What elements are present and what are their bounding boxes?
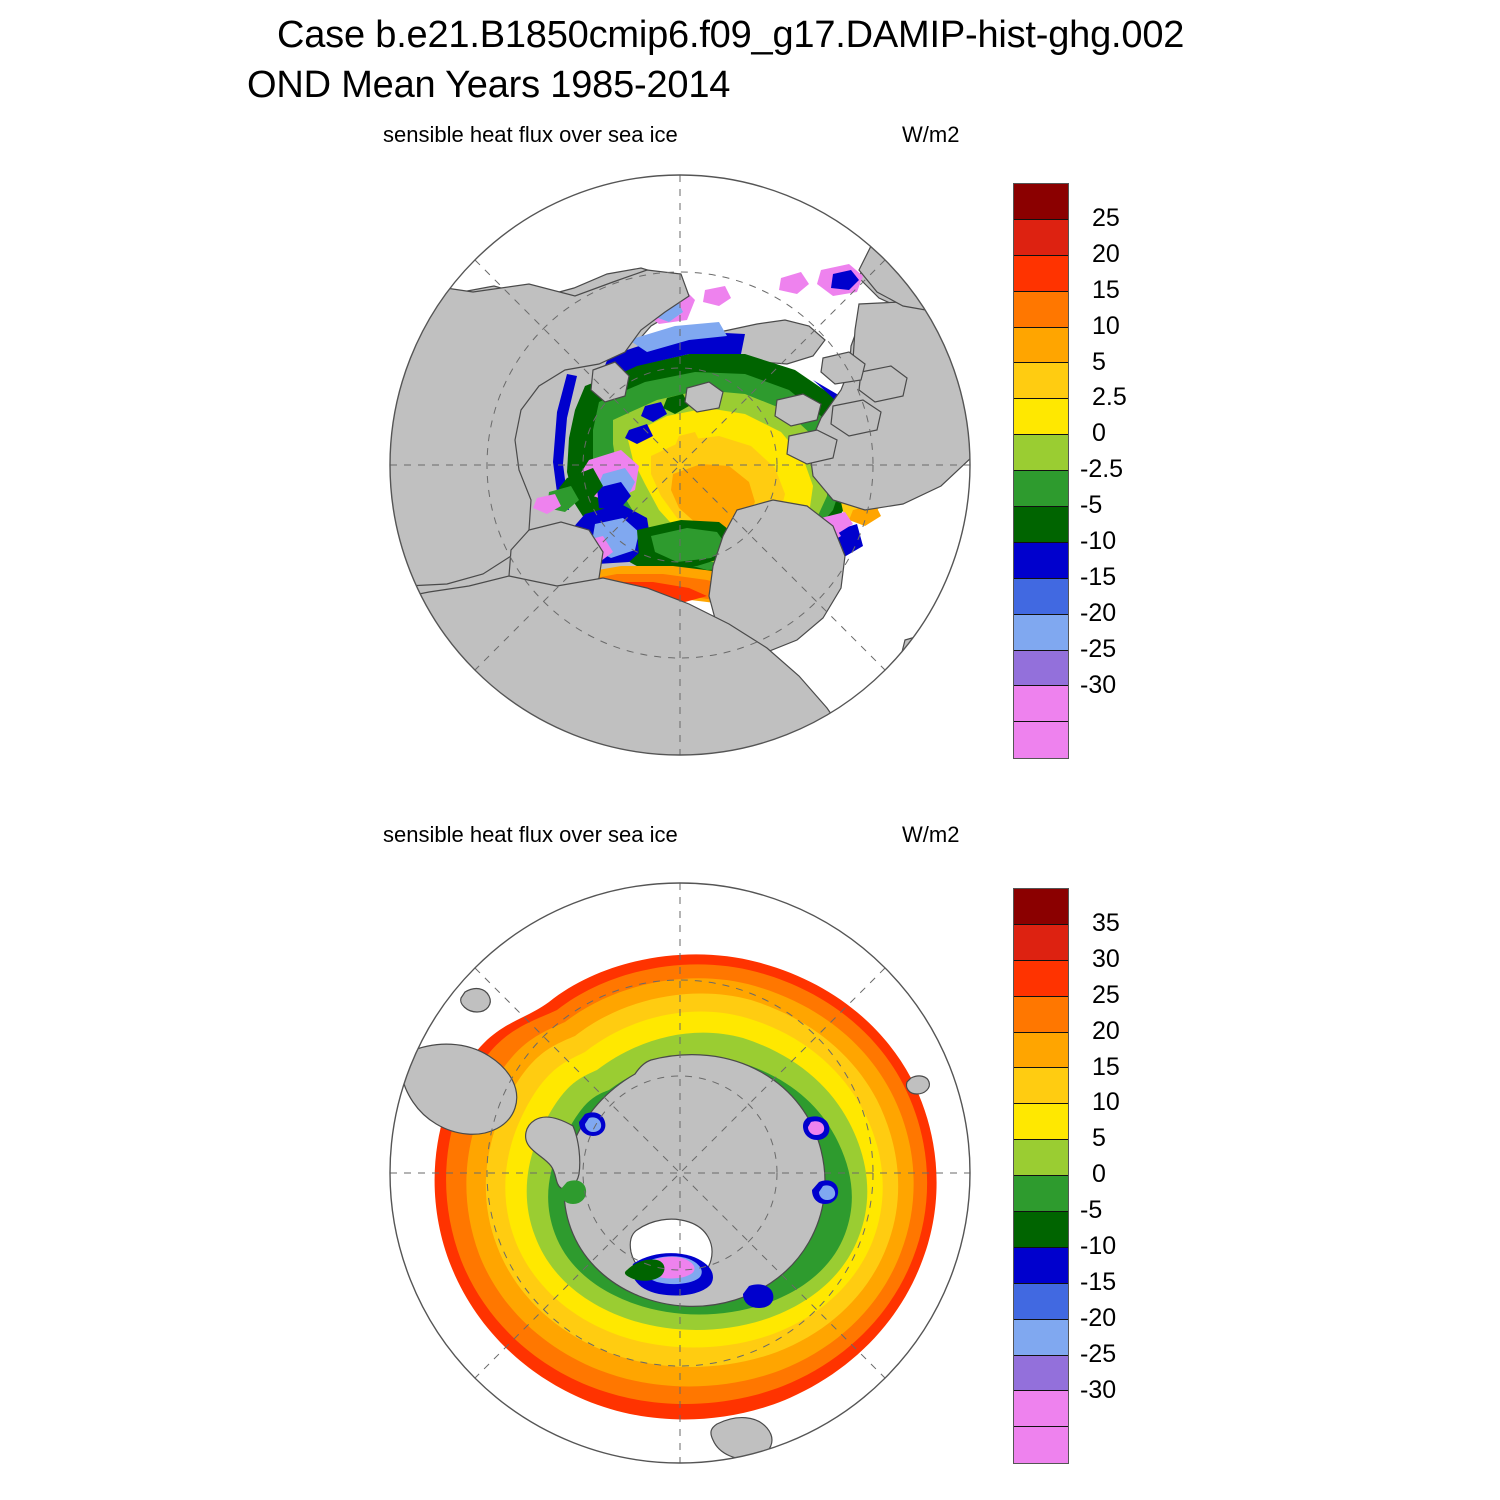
colorbar-band-12	[1014, 1320, 1068, 1356]
colorbar-band-8	[1014, 1176, 1068, 1212]
page-title-line2: OND Mean Years 1985-2014	[247, 64, 730, 107]
colorbar-tick-label: 30	[1092, 947, 1120, 972]
colorbar-band-2	[1014, 256, 1068, 292]
colorbar-band-5	[1014, 363, 1068, 399]
colorbar-band-4	[1014, 328, 1068, 364]
colorbar-tick-label: -2.5	[1080, 457, 1123, 482]
colorbar-band-1	[1014, 220, 1068, 256]
colorbar-band-10	[1014, 543, 1068, 579]
colorbar-tick-label: -10	[1080, 1234, 1116, 1259]
colorbar-tick-label: -10	[1080, 529, 1116, 554]
colorbar-tick-label: 15	[1092, 278, 1120, 303]
colorbar-tick-label: -15	[1080, 565, 1116, 590]
colorbar-band-5	[1014, 1068, 1068, 1104]
colorbar-tick-label: 2.5	[1092, 385, 1127, 410]
colorbar-tick-label: 10	[1092, 314, 1120, 339]
colorbar-tick-label: 5	[1092, 350, 1106, 375]
page-title-line1: Case b.e21.B1850cmip6.f09_g17.DAMIP-hist…	[277, 14, 1184, 57]
arctic-map	[389, 174, 971, 756]
colorbar-tick-label: 5	[1092, 1126, 1106, 1151]
colorbar-band-15	[1014, 1427, 1068, 1463]
colorbar-band-14	[1014, 1391, 1068, 1427]
colorbar-tick-label: 35	[1092, 911, 1120, 936]
colorbar-band-13	[1014, 651, 1068, 687]
colorbar-tick-label: -30	[1080, 1378, 1116, 1403]
colorbar-band-9	[1014, 507, 1068, 543]
colorbar-tick-label: -20	[1080, 1306, 1116, 1331]
colorbar-band-13	[1014, 1356, 1068, 1392]
colorbar-band-11	[1014, 579, 1068, 615]
colorbar-tick-label: -5	[1080, 493, 1102, 518]
colorbar-band-11	[1014, 1284, 1068, 1320]
colorbar-band-7	[1014, 1140, 1068, 1176]
colorbar-tick-label: 20	[1092, 1019, 1120, 1044]
colorbar-tick-label: 20	[1092, 242, 1120, 267]
colorbar-tick-label: -25	[1080, 1342, 1116, 1367]
colorbar-tick-label: -15	[1080, 1270, 1116, 1295]
antarctic-map	[389, 882, 971, 1464]
colorbar-band-3	[1014, 997, 1068, 1033]
colorbar-band-7	[1014, 435, 1068, 471]
colorbar-tick-label: -25	[1080, 637, 1116, 662]
colorbar-band-14	[1014, 686, 1068, 722]
colorbar-tick-label: 0	[1092, 421, 1106, 446]
colorbar-tick-label: -30	[1080, 673, 1116, 698]
arctic-variable-label: sensible heat flux over sea ice	[383, 122, 678, 148]
antarctic-map-svg	[389, 882, 971, 1464]
colorbar-band-6	[1014, 1104, 1068, 1140]
arctic-units-label: W/m2	[902, 122, 959, 148]
colorbar-band-6	[1014, 399, 1068, 435]
colorbar-band-4	[1014, 1033, 1068, 1069]
colorbar-band-10	[1014, 1248, 1068, 1284]
arctic-map-svg	[389, 174, 971, 756]
colorbar-band-8	[1014, 471, 1068, 507]
colorbar-band-2	[1014, 961, 1068, 997]
colorbar-tick-label: 25	[1092, 983, 1120, 1008]
arctic-colorbar	[1013, 183, 1069, 759]
colorbar-band-9	[1014, 1212, 1068, 1248]
colorbar-band-0	[1014, 184, 1068, 220]
antarctic-colorbar	[1013, 888, 1069, 1464]
colorbar-band-3	[1014, 292, 1068, 328]
colorbar-tick-label: 25	[1092, 206, 1120, 231]
colorbar-band-1	[1014, 925, 1068, 961]
antarctic-variable-label: sensible heat flux over sea ice	[383, 822, 678, 848]
colorbar-band-15	[1014, 722, 1068, 758]
colorbar-tick-label: -20	[1080, 601, 1116, 626]
colorbar-tick-label: -5	[1080, 1198, 1102, 1223]
antarctic-content	[390, 883, 970, 1463]
antarctic-units-label: W/m2	[902, 822, 959, 848]
colorbar-band-0	[1014, 889, 1068, 925]
colorbar-band-12	[1014, 615, 1068, 651]
colorbar-tick-label: 15	[1092, 1055, 1120, 1080]
colorbar-tick-label: 10	[1092, 1090, 1120, 1115]
colorbar-tick-label: 0	[1092, 1162, 1106, 1187]
